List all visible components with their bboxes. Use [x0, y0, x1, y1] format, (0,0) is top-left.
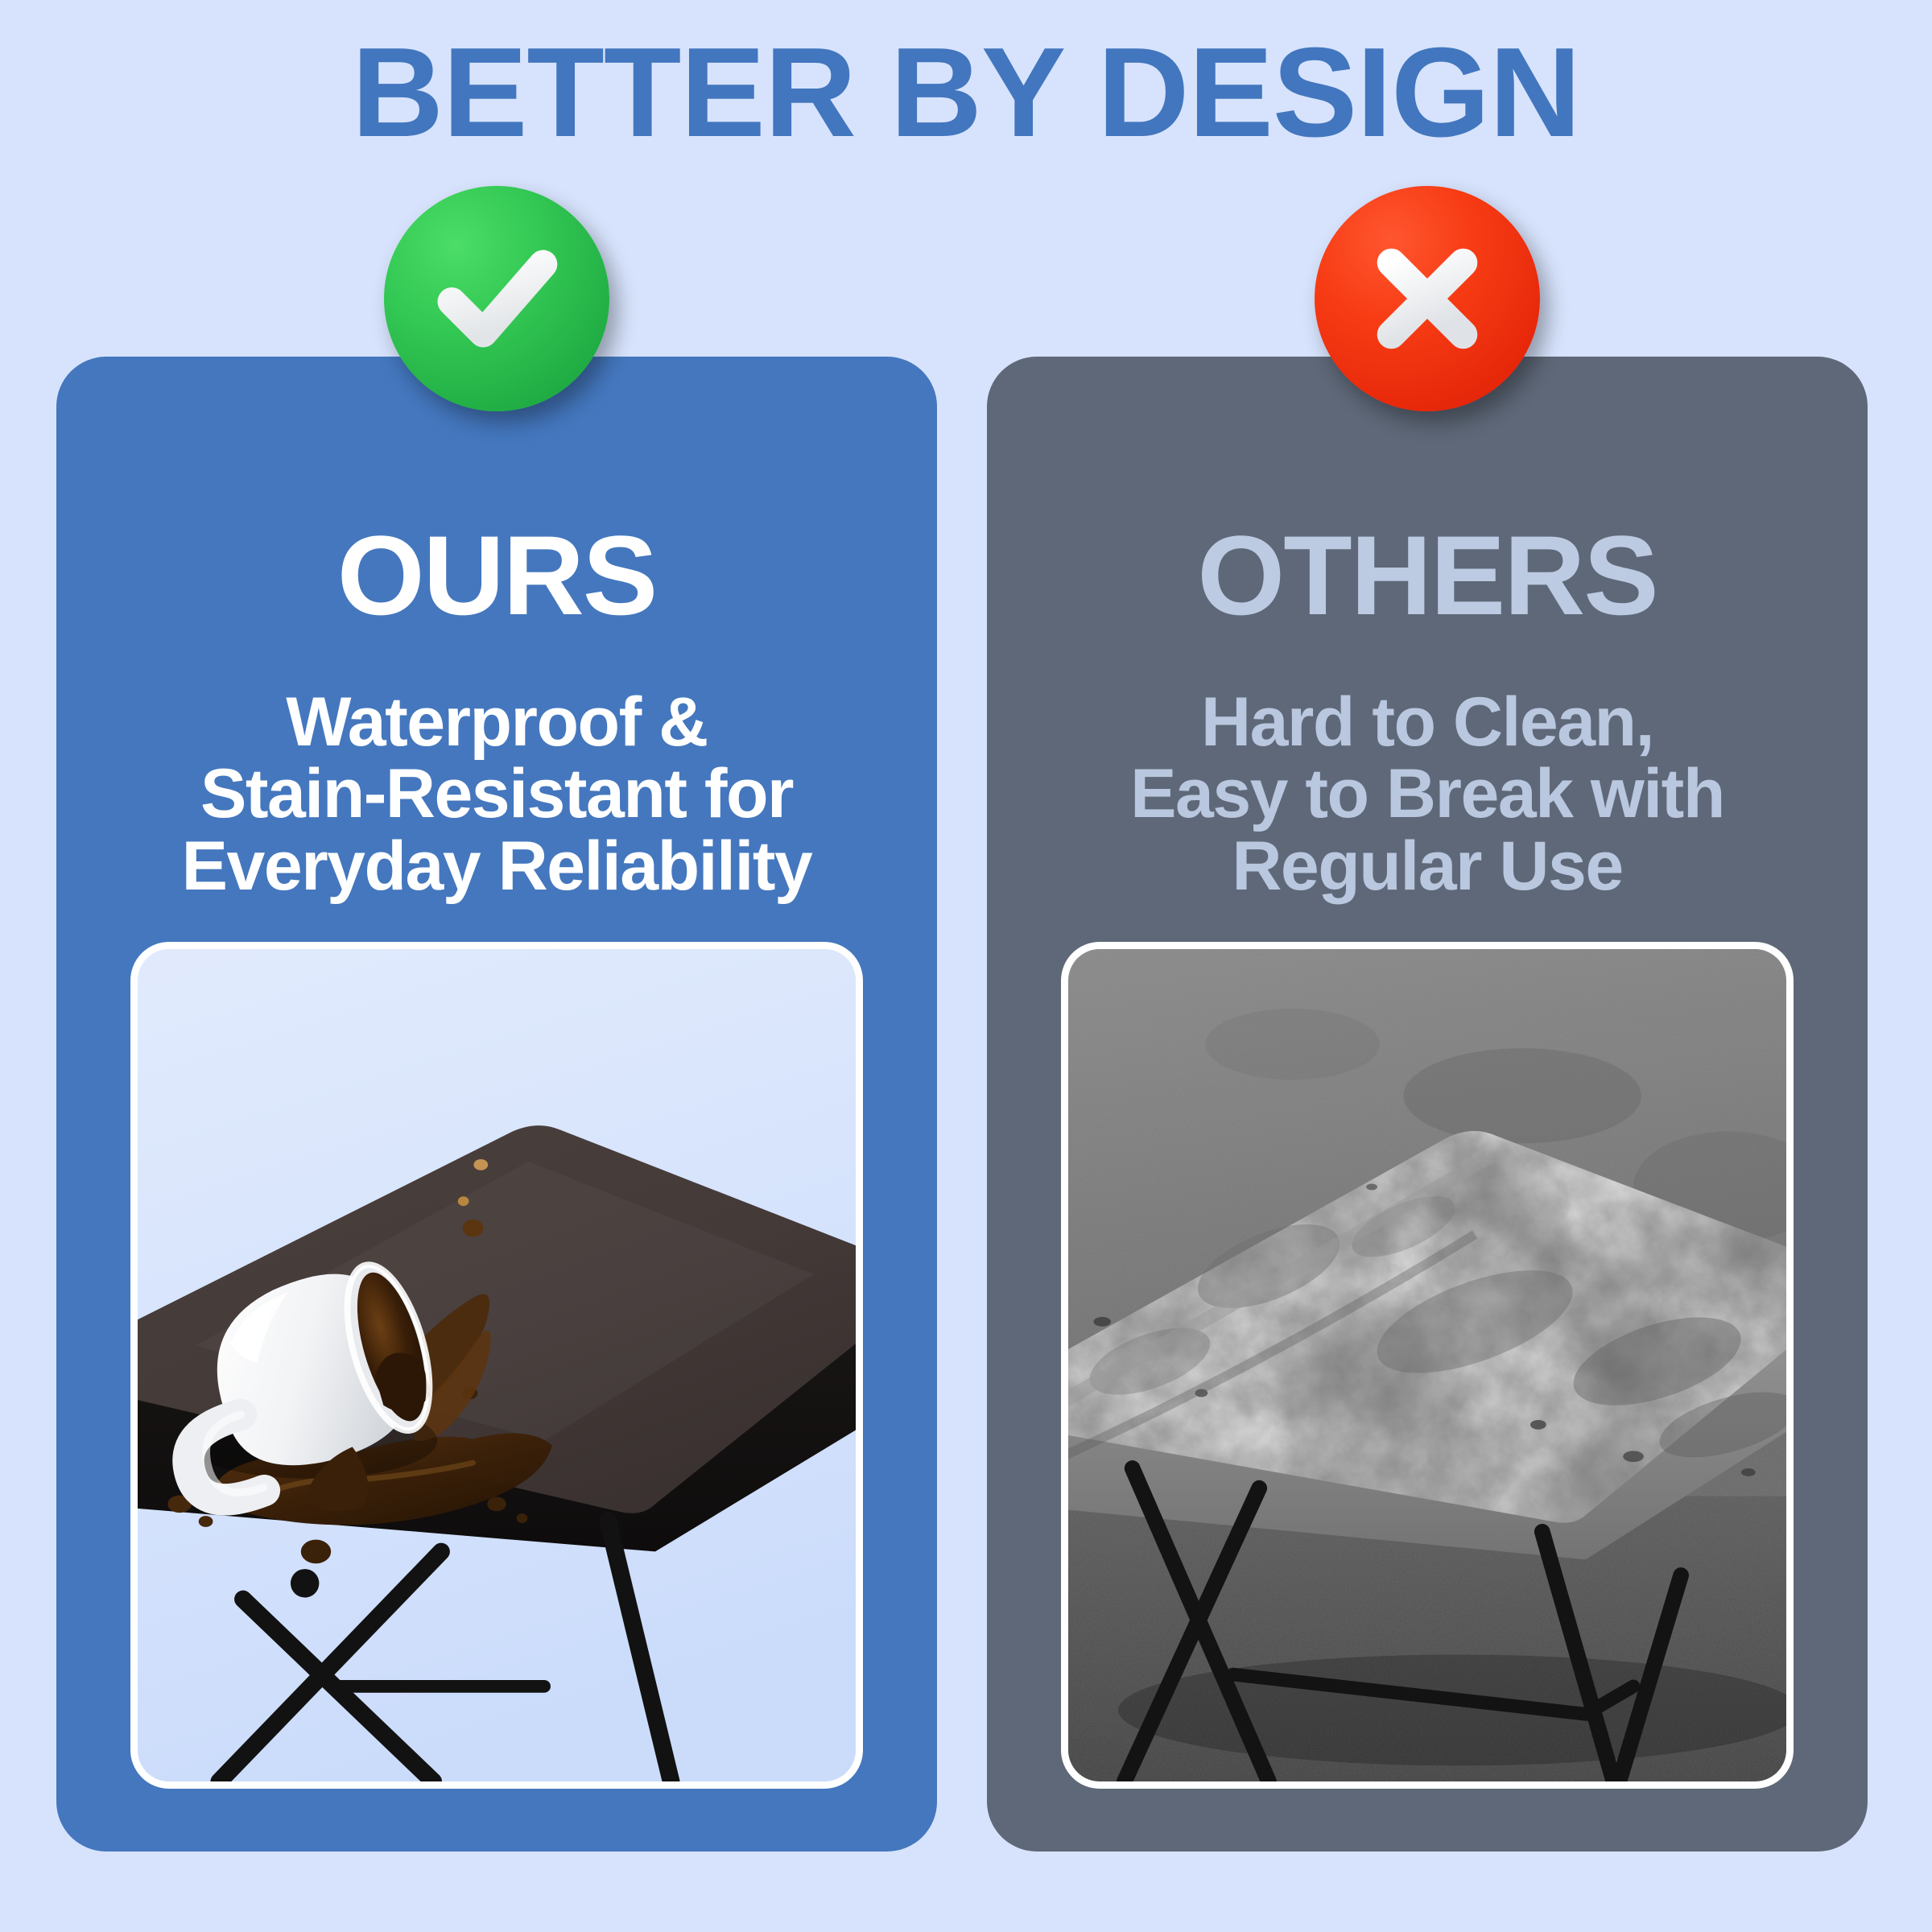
panel-subtitle-ours: Waterproof & Stain-Resistant for Everyda…	[92, 687, 902, 902]
cross-circle-icon	[1315, 186, 1540, 411]
check-circle-icon	[384, 186, 609, 411]
check-mark-glyph	[422, 224, 572, 374]
subtitle-line: Hard to Clean,	[1022, 687, 1832, 758]
subtitle-line: Easy to Break with	[1022, 758, 1832, 830]
panel-heading-others: OTHERS	[1197, 519, 1657, 632]
photo-illustration	[1068, 949, 1786, 1781]
panel-subtitle-others: Hard to Clean, Easy to Break with Regula…	[1022, 687, 1832, 902]
page-title: BETTER BY DESIGN	[0, 29, 1932, 156]
photo-illustration	[138, 949, 856, 1781]
subtitle-line: Regular Use	[1022, 831, 1832, 902]
dirty-stained-folding-table-photo	[1061, 942, 1794, 1789]
subtitle-line: Everyday Reliability	[92, 831, 902, 902]
subtitle-line: Waterproof &	[92, 687, 902, 758]
subtitle-line: Stain-Resistant for	[92, 758, 902, 830]
cross-mark-glyph	[1352, 224, 1502, 374]
panel-heading-ours: OURS	[337, 519, 656, 632]
panel-others: OTHERS Hard to Clean, Easy to Break with…	[987, 357, 1868, 1851]
coffee-spill-on-dark-table-photo	[130, 942, 863, 1789]
panel-ours: OURS Waterproof & Stain-Resistant for Ev…	[56, 357, 937, 1851]
comparison-panels: OURS Waterproof & Stain-Resistant for Ev…	[56, 357, 1868, 1851]
